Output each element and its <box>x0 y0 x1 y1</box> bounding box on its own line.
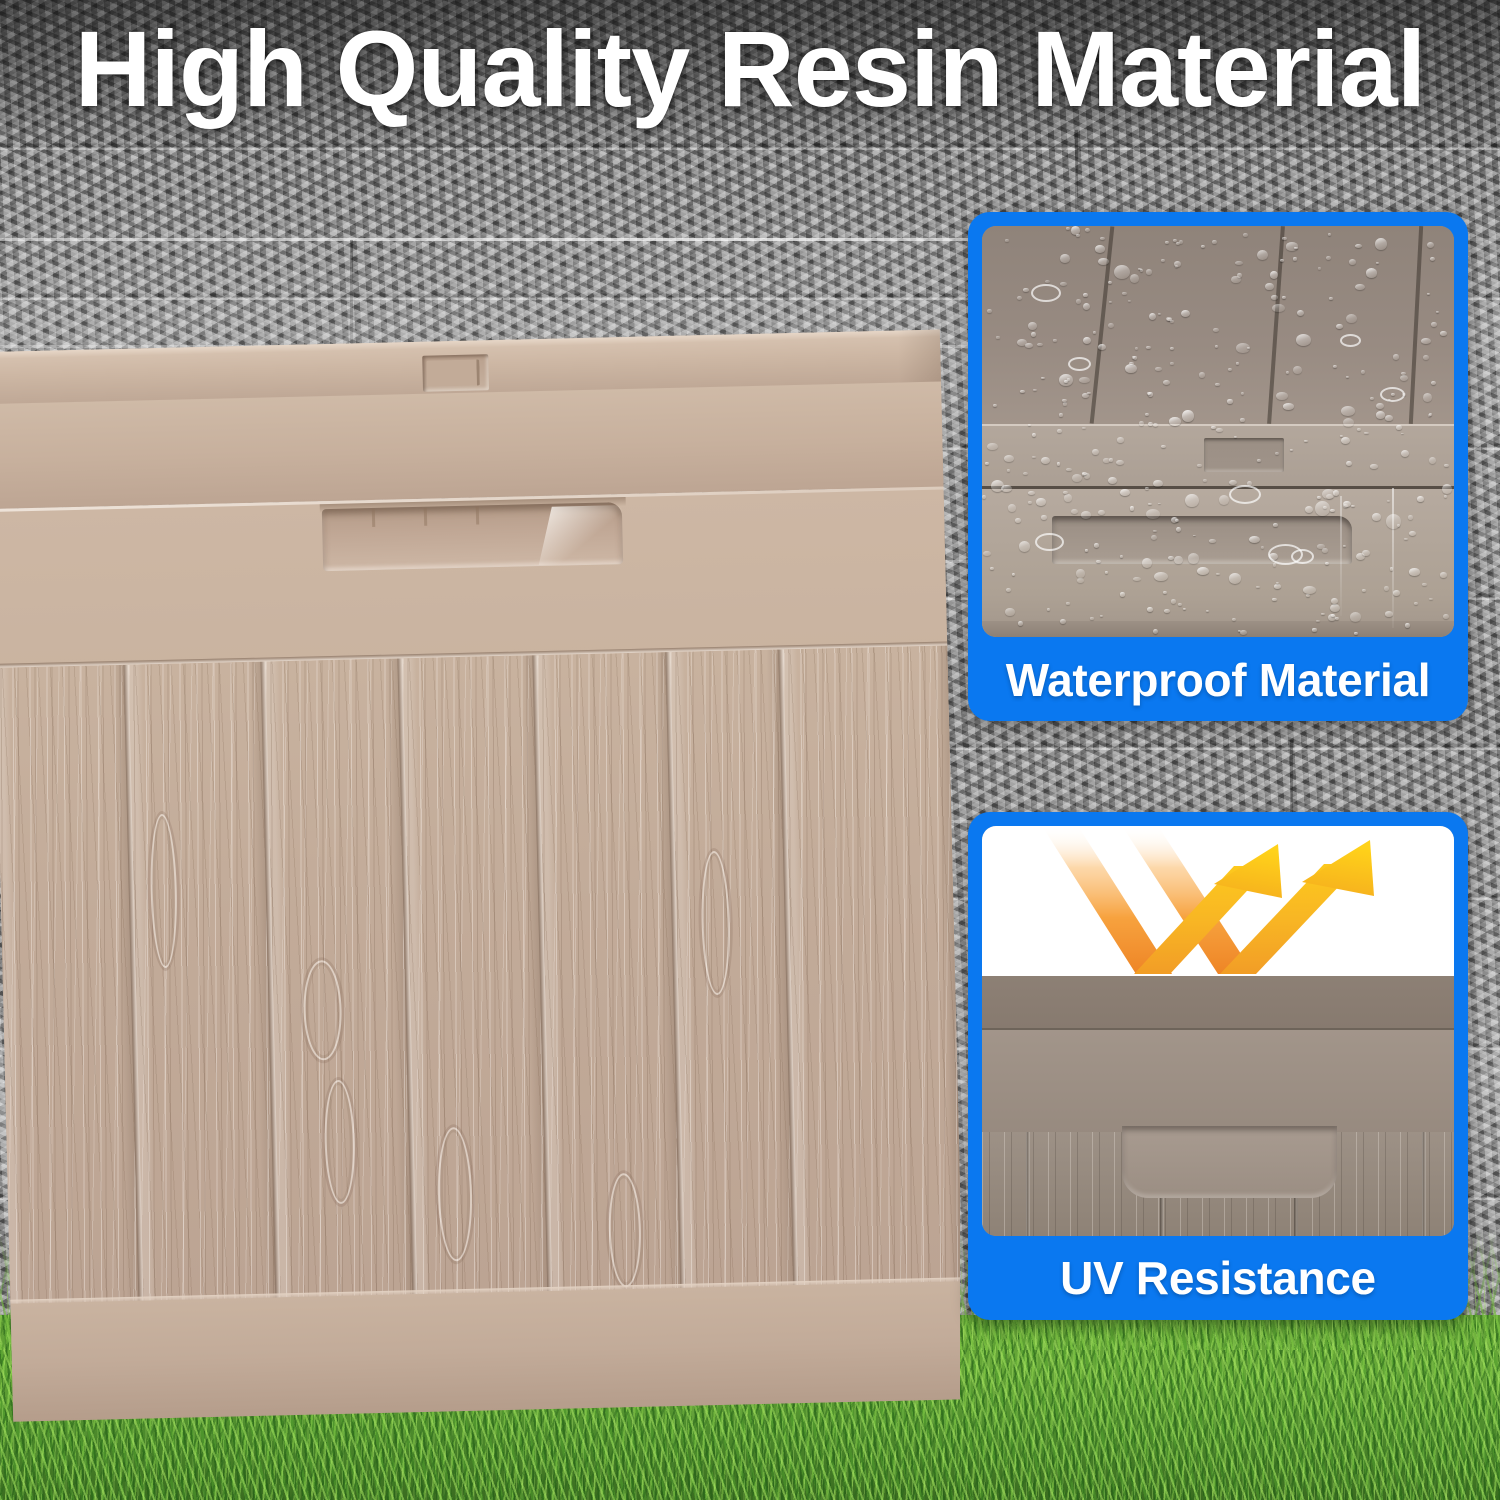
wood-grain-panel <box>128 662 275 1301</box>
water-droplet <box>1376 403 1383 409</box>
water-droplet <box>1064 494 1071 501</box>
water-droplet <box>1076 569 1085 577</box>
water-droplet <box>1094 543 1099 547</box>
wood-grain-panel <box>783 645 960 1285</box>
water-droplet <box>1090 617 1094 619</box>
water-droplet <box>1008 504 1017 512</box>
water-droplet <box>1103 458 1110 463</box>
water-droplet <box>985 462 988 465</box>
water-droplet <box>1206 610 1209 612</box>
wood-grain-panel <box>537 652 680 1291</box>
lock-tab-inner <box>426 359 480 386</box>
water-droplet <box>1045 280 1050 283</box>
water-droplet <box>1203 479 1207 482</box>
water-bead <box>1268 544 1303 565</box>
water-droplet <box>1213 328 1219 333</box>
water-droplet <box>1020 390 1025 393</box>
water-droplet <box>1440 572 1448 578</box>
water-droplet <box>1431 322 1437 327</box>
water-droplet <box>1283 403 1294 409</box>
lock-tab <box>422 354 489 392</box>
water-droplet <box>1063 491 1068 494</box>
water-droplet <box>1306 594 1309 597</box>
water-droplet <box>1082 473 1085 476</box>
water-droplet <box>1036 498 1045 506</box>
water-droplet <box>1409 531 1416 536</box>
water-droplet <box>982 495 986 499</box>
water-droplet <box>1116 460 1124 465</box>
water-droplet <box>1355 284 1364 290</box>
water-droplet <box>1171 599 1176 603</box>
water-droplet <box>1331 598 1338 604</box>
water-droplet <box>1274 584 1282 589</box>
handle-right-bevel <box>539 505 626 565</box>
water-droplet <box>1105 571 1109 574</box>
water-droplet <box>1372 513 1381 521</box>
lid-right-shade <box>898 330 941 383</box>
water-droplet <box>1385 415 1393 421</box>
water-droplet <box>1231 276 1240 284</box>
water-droplet <box>1273 523 1279 527</box>
water-droplet <box>1130 274 1139 283</box>
water-droplet <box>1031 332 1036 337</box>
water-droplet <box>1147 607 1153 612</box>
water-droplet <box>1059 413 1063 417</box>
water-droplet <box>1005 239 1009 242</box>
water-runnel <box>1340 496 1342 616</box>
water-droplet <box>1081 511 1092 519</box>
uv-reflected-arrow-2 <box>1220 840 1374 974</box>
water-droplet <box>1227 399 1232 404</box>
water-droplet <box>1083 303 1090 310</box>
water-droplet <box>1362 550 1369 556</box>
water-droplet <box>1147 392 1151 395</box>
water-droplet <box>1161 445 1166 448</box>
water-droplet <box>1322 489 1335 499</box>
water-droplet <box>1130 506 1134 510</box>
water-droplet <box>1282 296 1286 300</box>
water-droplet <box>1132 356 1136 358</box>
water-droplet <box>1057 462 1061 466</box>
water-droplet <box>1405 623 1410 628</box>
water-droplet <box>1393 590 1401 596</box>
water-droplet <box>1303 586 1316 594</box>
water-droplet <box>1390 567 1394 571</box>
water-droplet <box>1396 425 1402 430</box>
water-droplet <box>1293 257 1298 260</box>
water-droplet <box>1057 429 1061 433</box>
water-droplet <box>1041 457 1050 464</box>
water-droplet <box>1076 234 1079 237</box>
water-droplet <box>1165 241 1169 244</box>
water-droplet <box>1321 613 1325 615</box>
water-droplet <box>1257 459 1262 462</box>
water-droplet <box>1120 489 1130 496</box>
water-droplet <box>1201 245 1205 248</box>
wood-grain-panels <box>0 645 960 1303</box>
water-droplet <box>1012 573 1015 576</box>
card-caption-uv: UV Resistance <box>968 1240 1468 1320</box>
water-droplet <box>1015 518 1021 523</box>
water-droplet <box>1197 567 1209 575</box>
water-droplet <box>996 336 1000 338</box>
water-droplet <box>1261 546 1264 549</box>
water-runnel <box>1392 488 1394 628</box>
water-bead <box>1031 284 1061 302</box>
water-droplet <box>1079 377 1089 383</box>
water-droplet <box>1098 258 1109 265</box>
water-droplet <box>1386 514 1401 529</box>
water-droplet <box>1176 527 1181 532</box>
water-droplet <box>1053 339 1057 341</box>
water-droplet <box>1209 539 1216 543</box>
water-droplet <box>1182 410 1194 422</box>
product-marketing-image: High Quality Resin Material <box>0 0 1500 1500</box>
water-droplet <box>1004 455 1014 462</box>
water-droplet <box>1168 556 1173 560</box>
water-droplet <box>1315 501 1330 516</box>
water-droplet <box>1174 261 1181 267</box>
water-droplet <box>1128 300 1131 302</box>
water-droplet <box>1181 310 1190 317</box>
water-droplet <box>1197 464 1201 467</box>
water-droplet <box>1023 288 1029 291</box>
water-droplet <box>1417 496 1424 502</box>
water-droplet <box>1188 553 1200 564</box>
water-droplet <box>1163 380 1170 385</box>
water-droplet <box>1169 417 1181 426</box>
water-droplet <box>1276 392 1288 400</box>
water-droplet <box>1236 343 1249 353</box>
water-droplet <box>990 567 994 570</box>
water-droplet <box>1270 271 1278 279</box>
water-droplet <box>1370 397 1374 400</box>
water-droplet <box>1211 426 1215 429</box>
water-droplet <box>1153 629 1158 634</box>
water-droplet <box>1265 283 1273 290</box>
water-droplet <box>1170 362 1174 365</box>
water-droplet <box>1083 293 1088 297</box>
water-bead <box>1380 387 1405 402</box>
water-droplet <box>1414 602 1418 605</box>
uv-ray-diagram <box>982 826 1454 1236</box>
water-droplet <box>1236 362 1239 364</box>
water-droplet <box>1018 621 1024 626</box>
water-droplet <box>1108 281 1112 284</box>
water-bead <box>1035 533 1064 551</box>
water-droplet <box>1145 487 1148 490</box>
water-droplet <box>1176 242 1180 245</box>
base-skirt <box>10 1281 960 1421</box>
water-droplet <box>1349 259 1356 265</box>
water-droplet <box>1276 582 1279 584</box>
water-droplet <box>1318 267 1321 269</box>
water-droplet <box>1350 612 1361 622</box>
water-droplet <box>1175 519 1178 522</box>
wood-grain-panel <box>0 665 138 1304</box>
water-droplet <box>1212 240 1216 244</box>
water-droplet <box>1117 437 1124 443</box>
water-droplet <box>1066 468 1072 471</box>
water-droplet <box>1095 245 1105 253</box>
water-droplet <box>1409 568 1421 575</box>
handle-rib <box>424 508 427 526</box>
water-droplet <box>1364 432 1368 434</box>
water-droplet <box>1297 310 1304 316</box>
water-droplet <box>1146 346 1151 349</box>
water-droplet <box>1023 472 1028 475</box>
water-droplet <box>1336 324 1342 329</box>
water-droplet <box>1293 366 1302 374</box>
water-droplet <box>1341 406 1355 416</box>
water-droplet <box>1199 372 1205 378</box>
water-droplet <box>1366 268 1377 277</box>
water-droplet <box>1108 477 1118 485</box>
handle-rib <box>372 509 375 527</box>
box-bottom-rail <box>982 621 1454 637</box>
resin-deck-box <box>0 330 960 1422</box>
water-droplet <box>1443 614 1450 619</box>
card-caption-waterproof: Waterproof Material <box>968 643 1468 721</box>
handle-rib <box>476 506 479 524</box>
water-droplet <box>1153 530 1157 532</box>
water-droplet <box>1317 496 1320 499</box>
water-droplet <box>1215 383 1219 386</box>
uv-photo <box>982 826 1454 1236</box>
water-droplet <box>1028 322 1037 330</box>
water-bead <box>1340 334 1361 347</box>
water-droplet <box>1294 247 1298 250</box>
water-droplet <box>1282 237 1287 240</box>
water-droplet <box>1243 233 1248 237</box>
water-droplet <box>1041 515 1047 520</box>
water-droplet <box>1216 428 1223 432</box>
water-droplet <box>1164 609 1170 613</box>
water-droplet <box>1271 295 1278 300</box>
water-droplet <box>1343 418 1354 427</box>
water-droplet <box>1037 343 1043 346</box>
water-droplet <box>1357 428 1361 431</box>
water-droplet <box>1007 469 1010 472</box>
water-droplet <box>1098 344 1105 350</box>
water-droplet <box>1028 501 1031 504</box>
water-droplet <box>1135 347 1138 350</box>
water-droplet <box>1154 572 1168 581</box>
feature-card-waterproof[interactable]: Waterproof Material <box>968 212 1468 721</box>
water-droplet <box>1335 617 1338 620</box>
water-droplet <box>1161 259 1165 263</box>
water-droplet <box>1060 282 1067 286</box>
water-droplet <box>1429 598 1433 600</box>
water-droplet <box>1060 254 1070 263</box>
water-droplet <box>1421 338 1431 344</box>
wood-grain-panel <box>670 649 793 1287</box>
water-droplet <box>1370 464 1378 468</box>
water-droplet <box>1064 380 1068 383</box>
water-droplet <box>1170 320 1173 323</box>
water-droplet <box>1185 494 1198 507</box>
water-droplet <box>1330 604 1340 612</box>
water-droplet <box>1249 536 1260 543</box>
water-droplet <box>1085 549 1088 552</box>
deck-box-region <box>0 0 960 1500</box>
water-droplet <box>1341 437 1350 444</box>
water-droplet <box>1076 299 1082 304</box>
water-droplet <box>1163 591 1167 595</box>
water-droplet <box>1019 541 1030 551</box>
water-droplet <box>1083 337 1091 344</box>
waterproof-photo <box>982 226 1454 637</box>
water-droplet <box>1232 618 1236 621</box>
water-droplet <box>1017 296 1022 300</box>
water-droplet <box>1273 563 1276 566</box>
wood-grain-panel <box>402 655 547 1294</box>
water-droplet <box>1240 418 1245 422</box>
water-droplet <box>1066 602 1070 604</box>
water-droplet <box>1114 265 1130 279</box>
water-droplet <box>1122 292 1126 295</box>
water-droplet <box>1092 449 1099 456</box>
water-droplet <box>1429 457 1437 464</box>
water-droplet <box>1133 577 1140 581</box>
feature-card-uv-resistance[interactable]: UV Resistance <box>968 812 1468 1320</box>
water-droplet <box>1376 411 1385 418</box>
water-droplet <box>1329 297 1333 300</box>
water-droplet <box>1333 365 1337 368</box>
water-droplet <box>1125 364 1137 374</box>
water-droplet <box>1109 301 1112 303</box>
water-droplet <box>1312 628 1317 631</box>
water-droplet <box>1229 480 1237 485</box>
water-droplet <box>1343 504 1348 508</box>
water-droplet <box>1404 538 1408 541</box>
water-droplet <box>1170 347 1174 350</box>
water-bead <box>1068 357 1091 371</box>
water-droplet <box>1153 480 1163 487</box>
water-droplet <box>1120 592 1126 596</box>
water-droplet <box>1028 424 1031 426</box>
water-bead <box>1229 485 1261 504</box>
water-droplet <box>1063 402 1067 405</box>
water-droplet <box>1346 314 1357 323</box>
water-droplet <box>1062 399 1067 403</box>
lock-plate <box>1204 438 1284 472</box>
